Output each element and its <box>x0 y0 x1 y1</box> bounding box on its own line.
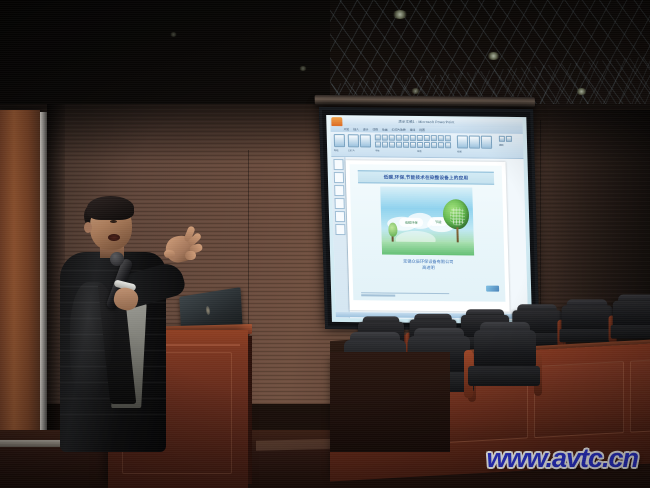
underline-icon[interactable] <box>389 135 395 141</box>
find-icon[interactable] <box>499 136 505 142</box>
ribbon-group-slides[interactable]: 幻灯片 <box>348 134 372 152</box>
ribbon-group-editing[interactable]: 编辑 <box>499 136 512 147</box>
ribbon-group-paragraph[interactable]: 段落 <box>417 135 452 153</box>
tab-design[interactable]: 设计 <box>363 127 369 131</box>
font-size-grow-icon[interactable] <box>375 141 381 147</box>
ceiling-dark-region <box>0 0 330 120</box>
strikethrough-icon[interactable] <box>396 135 402 141</box>
quick-styles-icon[interactable] <box>481 136 492 149</box>
font-size-shrink-icon[interactable] <box>382 142 388 148</box>
line-spacing-icon[interactable] <box>445 135 451 141</box>
projection-screen: 演示文稿1 - Microsoft PowerPoint 开始 插入 设计 切换… <box>319 103 537 327</box>
indent-decrease-icon[interactable] <box>431 135 437 141</box>
slide-canvas[interactable]: 低碳,环保,节能技术在染整设备上的应用 低碳环保 <box>350 164 506 302</box>
bubble-text: 节能 <box>435 219 442 224</box>
ribbon-group-label: 字体 <box>375 148 416 152</box>
desk-panel <box>534 361 624 438</box>
align-center-icon[interactable] <box>424 142 430 148</box>
change-case-icon[interactable] <box>403 142 409 148</box>
powerpoint-workspace: 低碳,环保,节能技术在染整设备上的应用 低碳环保 <box>331 157 528 320</box>
downlight-icon <box>487 52 500 60</box>
screenshot-root: 演示文稿1 - Microsoft PowerPoint 开始 插入 设计 切换… <box>0 0 650 488</box>
watermark: www.avtc.cn <box>486 443 638 474</box>
presenter <box>52 196 202 488</box>
font-color-icon[interactable] <box>410 135 416 141</box>
ribbon-group-label: 编辑 <box>499 143 512 147</box>
downlight-icon <box>576 88 587 95</box>
paste-icon[interactable] <box>334 134 345 147</box>
tab-home[interactable]: 开始 <box>344 127 350 131</box>
slide-thumbnail[interactable] <box>333 159 343 170</box>
ribbon-group-paste[interactable]: 粘贴 <box>334 134 346 152</box>
bullets-icon[interactable] <box>417 135 423 141</box>
document-title: 演示文稿1 - Microsoft PowerPoint <box>398 119 454 125</box>
downlight-icon <box>392 10 408 19</box>
bubble-text: 低碳环保 <box>405 220 418 225</box>
tab-slideshow[interactable]: 幻灯片放映 <box>392 128 406 132</box>
thumb <box>163 249 175 258</box>
tab-view[interactable]: 视图 <box>419 128 425 132</box>
slide-thumbnail[interactable] <box>334 185 344 196</box>
layout-icon[interactable] <box>360 134 371 147</box>
tab-insert[interactable]: 插入 <box>353 127 359 131</box>
presenter-hair <box>87 196 134 220</box>
ribbon[interactable]: 粘贴 幻灯片 <box>331 132 524 159</box>
pillar-metal-trim <box>40 112 47 442</box>
downlight-icon <box>411 88 420 94</box>
slide-editing-area[interactable]: 低碳,环保,节能技术在染整设备上的应用 低碳环保 <box>345 160 509 312</box>
highlight-icon[interactable] <box>410 142 416 148</box>
shapes-icon[interactable] <box>457 135 468 148</box>
picture-bubble: 低碳环保 <box>399 218 423 227</box>
projection-screen-roller <box>315 95 535 107</box>
char-spacing-icon[interactable] <box>396 142 402 148</box>
columns-icon[interactable] <box>445 142 451 148</box>
slide-thumbnail[interactable] <box>334 198 344 209</box>
taskbar-button[interactable] <box>335 323 344 324</box>
slide-subtitle-line: 高进明 <box>352 264 504 272</box>
tab-animations[interactable]: 动画 <box>382 128 388 132</box>
slide-title-text: 低碳,环保,节能技术在染整设备上的应用 <box>384 174 469 181</box>
align-right-icon[interactable] <box>431 142 437 148</box>
presenter-eye <box>110 220 117 223</box>
presenter-mouth <box>108 234 120 241</box>
indent-increase-icon[interactable] <box>438 135 444 141</box>
powerpoint-window: 演示文稿1 - Microsoft PowerPoint 开始 插入 设计 切换… <box>330 117 528 319</box>
align-left-icon[interactable] <box>417 142 423 148</box>
company-logo-icon <box>486 286 499 292</box>
ribbon-group-label: 绘图 <box>457 149 492 153</box>
slide-subtitle[interactable]: 无锡众辰环保设备有限公司 高进明 <box>352 258 504 272</box>
ribbon-group-font[interactable]: 字体 <box>375 134 417 152</box>
ribbon-group-label: 幻灯片 <box>348 148 371 152</box>
slide-title-box[interactable]: 低碳,环保,节能技术在染整设备上的应用 <box>358 170 494 184</box>
slide-thumbnail[interactable] <box>333 172 343 183</box>
projection-screen-frame: 演示文稿1 - Microsoft PowerPoint 开始 插入 设计 切换… <box>319 107 539 331</box>
wall-pillar <box>0 110 40 440</box>
replace-icon[interactable] <box>506 136 512 142</box>
slide-thumbnail[interactable] <box>335 224 345 235</box>
arrange-icon[interactable] <box>469 135 480 148</box>
taskbar-button[interactable] <box>344 323 353 324</box>
slide-picture[interactable]: 低碳环保 节能 <box>380 187 474 256</box>
slide-thumbnail[interactable] <box>334 211 344 222</box>
new-slide-icon[interactable] <box>348 134 359 147</box>
ground-band <box>382 241 474 255</box>
tab-review[interactable]: 审阅 <box>410 128 416 132</box>
microphone-head <box>110 252 124 266</box>
italic-icon[interactable] <box>382 135 388 141</box>
bold-icon[interactable] <box>375 134 381 140</box>
finger <box>185 251 196 260</box>
tab-transitions[interactable]: 切换 <box>372 127 378 131</box>
globe-grid-overlay <box>450 207 466 225</box>
numbering-icon[interactable] <box>424 135 430 141</box>
clear-format-icon[interactable] <box>389 142 395 148</box>
slide-footnote <box>361 292 449 298</box>
downlight-icon <box>170 32 177 37</box>
projection-screen-surface: 演示文稿1 - Microsoft PowerPoint 开始 插入 设计 切换… <box>326 115 532 324</box>
ribbon-group-label: 粘贴 <box>334 148 345 152</box>
ribbon-group-drawing[interactable]: 绘图 <box>457 135 493 153</box>
shadow-icon[interactable] <box>403 135 409 141</box>
presenter-ear <box>84 222 92 233</box>
front-desk-block <box>330 352 450 452</box>
desk-panel <box>630 358 650 432</box>
presenter-raised-hand <box>160 224 200 264</box>
downlight-icon <box>299 66 307 71</box>
conference-chair-front <box>466 320 544 430</box>
justify-icon[interactable] <box>438 142 444 148</box>
ribbon-group-label: 段落 <box>417 149 451 153</box>
